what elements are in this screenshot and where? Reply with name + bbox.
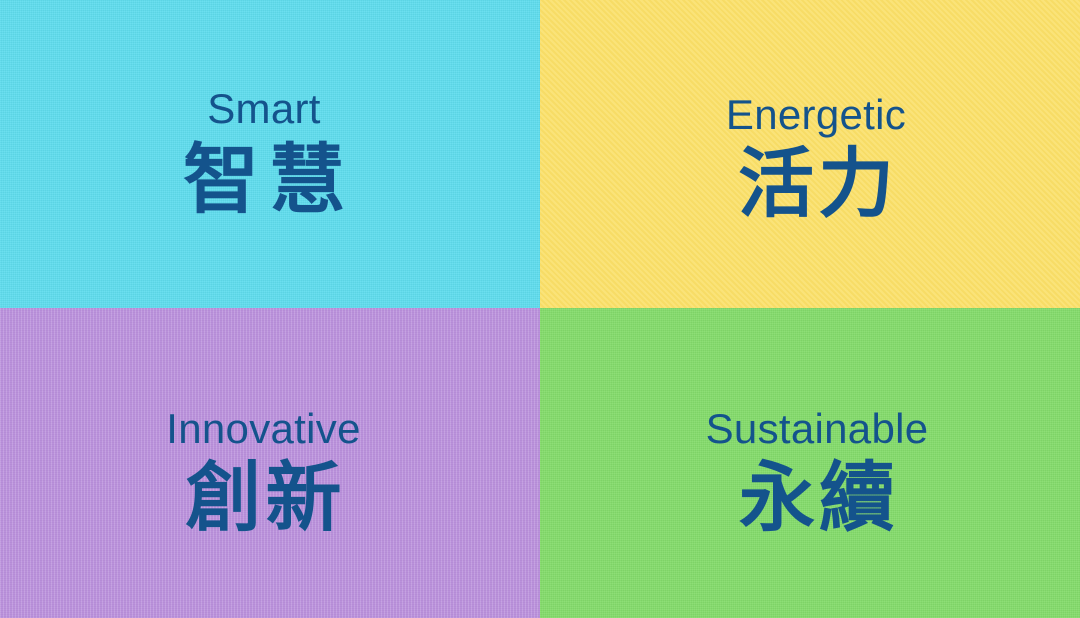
quadrant-innovative-label-zh: 創新: [166, 460, 360, 536]
quadrant-energetic-label-en: Energetic: [726, 94, 906, 136]
quadrant-sustainable-text-block: Sustainable 永續: [706, 408, 929, 536]
quadrant-sustainable-label-zh: 永續: [706, 460, 929, 536]
quadrant-grid: Smart 智慧 Energetic 活力 Innovative 創新 Sust…: [0, 0, 1080, 618]
quadrant-sustainable: Sustainable 永續: [540, 308, 1080, 618]
quadrant-smart-text-block: Smart 智慧: [173, 88, 355, 218]
quadrant-innovative: Innovative 創新: [0, 308, 540, 618]
quadrant-smart-label-en: Smart: [173, 88, 355, 130]
quadrant-smart-label-zh: 智慧: [173, 142, 355, 218]
quadrant-sustainable-label-en: Sustainable: [706, 408, 929, 450]
quadrant-smart: Smart 智慧: [0, 0, 540, 308]
quadrant-energetic-text-block: Energetic 活力: [726, 94, 906, 222]
quadrant-energetic-label-zh: 活力: [726, 146, 906, 222]
quadrant-innovative-label-en: Innovative: [166, 408, 360, 450]
quadrant-innovative-text-block: Innovative 創新: [166, 408, 360, 536]
quadrant-energetic: Energetic 活力: [540, 0, 1080, 308]
